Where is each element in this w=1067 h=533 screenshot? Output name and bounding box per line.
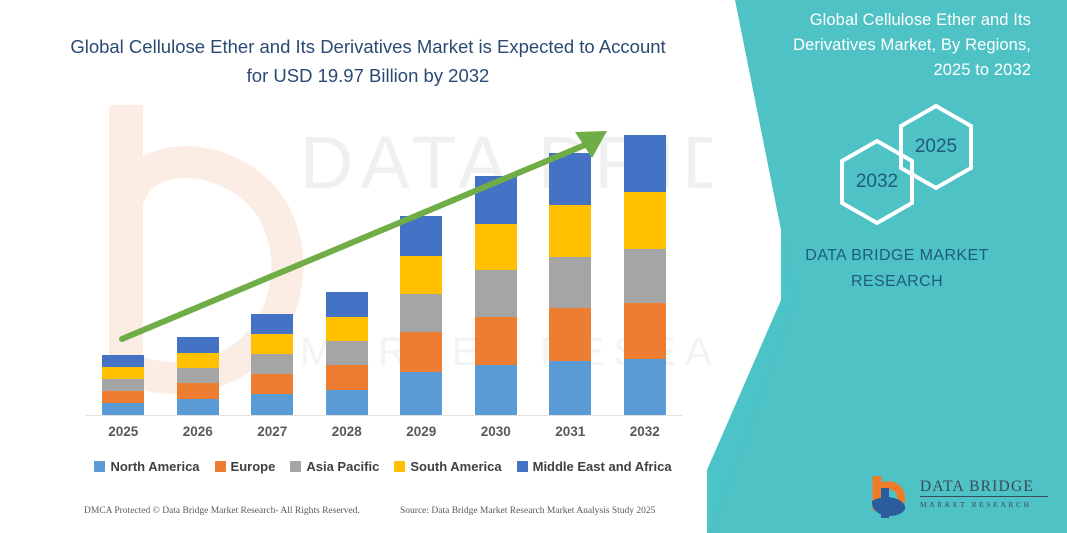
- stacked-bar-series: [86, 110, 682, 415]
- bar-column-2032: [624, 135, 666, 415]
- bar-column-2029: [400, 216, 442, 415]
- bar-segment: [251, 334, 293, 354]
- bar-column-2028: [326, 292, 368, 415]
- logo-line-2: MARKET RESEARCH: [920, 500, 1048, 509]
- logo-line-1: DATA BRIDGE: [920, 478, 1048, 497]
- bar-segment: [549, 257, 591, 308]
- bar-segment: [475, 317, 517, 365]
- x-tick-label: 2030: [466, 424, 526, 439]
- bar-segment: [326, 341, 368, 365]
- bar-segment: [326, 292, 368, 317]
- x-tick-label: 2028: [317, 424, 377, 439]
- x-tick-label: 2025: [93, 424, 153, 439]
- footer-source: Source: Data Bridge Market Research Mark…: [400, 506, 655, 516]
- bar-segment: [475, 224, 517, 270]
- bar-segment: [549, 361, 591, 415]
- bar-column-2031: [549, 153, 591, 415]
- bar-segment: [624, 249, 666, 303]
- bar-segment: [102, 403, 144, 415]
- infographic-page: DATA BRIDGE MARKET RESEARCH Global Cellu…: [0, 0, 1067, 533]
- bar-segment: [177, 399, 219, 415]
- bar-segment: [326, 365, 368, 390]
- legend-item[interactable]: South America: [394, 459, 501, 474]
- bar-segment: [102, 379, 144, 391]
- panel-title: Global Cellulose Ether and Its Derivativ…: [763, 8, 1031, 83]
- legend-swatch-icon: [290, 461, 301, 472]
- bar-segment: [102, 355, 144, 367]
- legend-swatch-icon: [517, 461, 528, 472]
- bar-segment: [400, 216, 442, 256]
- bar-segment: [624, 135, 666, 192]
- hexagon-badge-end-year: 2032: [838, 138, 916, 226]
- x-axis-tick-labels: 20252026202720282029203020312032: [86, 424, 682, 444]
- bar-segment: [475, 365, 517, 415]
- page-title: Global Cellulose Ether and Its Derivativ…: [58, 32, 678, 90]
- bar-segment: [475, 270, 517, 317]
- footer: DMCA Protected © Data Bridge Market Rese…: [0, 506, 712, 528]
- bar-segment: [549, 205, 591, 257]
- bar-segment: [475, 176, 517, 224]
- bar-segment: [400, 256, 442, 294]
- legend-item[interactable]: Middle East and Africa: [517, 459, 672, 474]
- legend-label: North America: [110, 459, 199, 474]
- bar-column-2030: [475, 176, 517, 415]
- x-tick-label: 2032: [615, 424, 675, 439]
- bar-segment: [326, 317, 368, 341]
- x-tick-label: 2027: [242, 424, 302, 439]
- legend-label: Middle East and Africa: [533, 459, 672, 474]
- bar-column-2025: [102, 355, 144, 415]
- x-axis-line: [86, 415, 682, 416]
- bar-segment: [251, 314, 293, 334]
- data-bridge-logo-icon: [868, 476, 914, 518]
- bar-segment: [251, 394, 293, 415]
- bar-segment: [624, 359, 666, 415]
- bar-segment: [400, 294, 442, 332]
- bar-segment: [177, 353, 219, 368]
- hexagon-end-year-label: 2032: [838, 138, 916, 226]
- legend-item[interactable]: North America: [94, 459, 199, 474]
- x-tick-label: 2029: [391, 424, 451, 439]
- bar-segment: [624, 192, 666, 249]
- panel-brand-text: DATA BRIDGE MARKET RESEARCH: [767, 243, 1027, 295]
- bar-segment: [251, 354, 293, 374]
- legend-swatch-icon: [394, 461, 405, 472]
- bar-segment: [549, 153, 591, 205]
- brand-logo: DATA BRIDGE MARKET RESEARCH: [868, 474, 1048, 520]
- footer-copyright: DMCA Protected © Data Bridge Market Rese…: [84, 506, 360, 516]
- bar-segment: [102, 391, 144, 403]
- legend-label: Asia Pacific: [306, 459, 379, 474]
- chart-legend: North AmericaEuropeAsia PacificSouth Ame…: [78, 455, 688, 477]
- logo-text: DATA BRIDGE MARKET RESEARCH: [920, 478, 1048, 509]
- bar-segment: [102, 367, 144, 379]
- bar-segment: [177, 337, 219, 353]
- legend-swatch-icon: [94, 461, 105, 472]
- bar-segment: [251, 374, 293, 394]
- legend-swatch-icon: [215, 461, 226, 472]
- legend-label: South America: [410, 459, 501, 474]
- bar-segment: [624, 303, 666, 359]
- legend-item[interactable]: Europe: [215, 459, 276, 474]
- bar-segment: [400, 372, 442, 415]
- legend-label: Europe: [231, 459, 276, 474]
- bar-segment: [177, 383, 219, 399]
- bar-segment: [326, 390, 368, 415]
- x-tick-label: 2026: [168, 424, 228, 439]
- legend-item[interactable]: Asia Pacific: [290, 459, 379, 474]
- bar-column-2027: [251, 314, 293, 415]
- x-tick-label: 2031: [540, 424, 600, 439]
- bar-segment: [549, 308, 591, 361]
- bar-segment: [400, 332, 442, 372]
- bar-column-2026: [177, 337, 219, 415]
- bar-segment: [177, 368, 219, 383]
